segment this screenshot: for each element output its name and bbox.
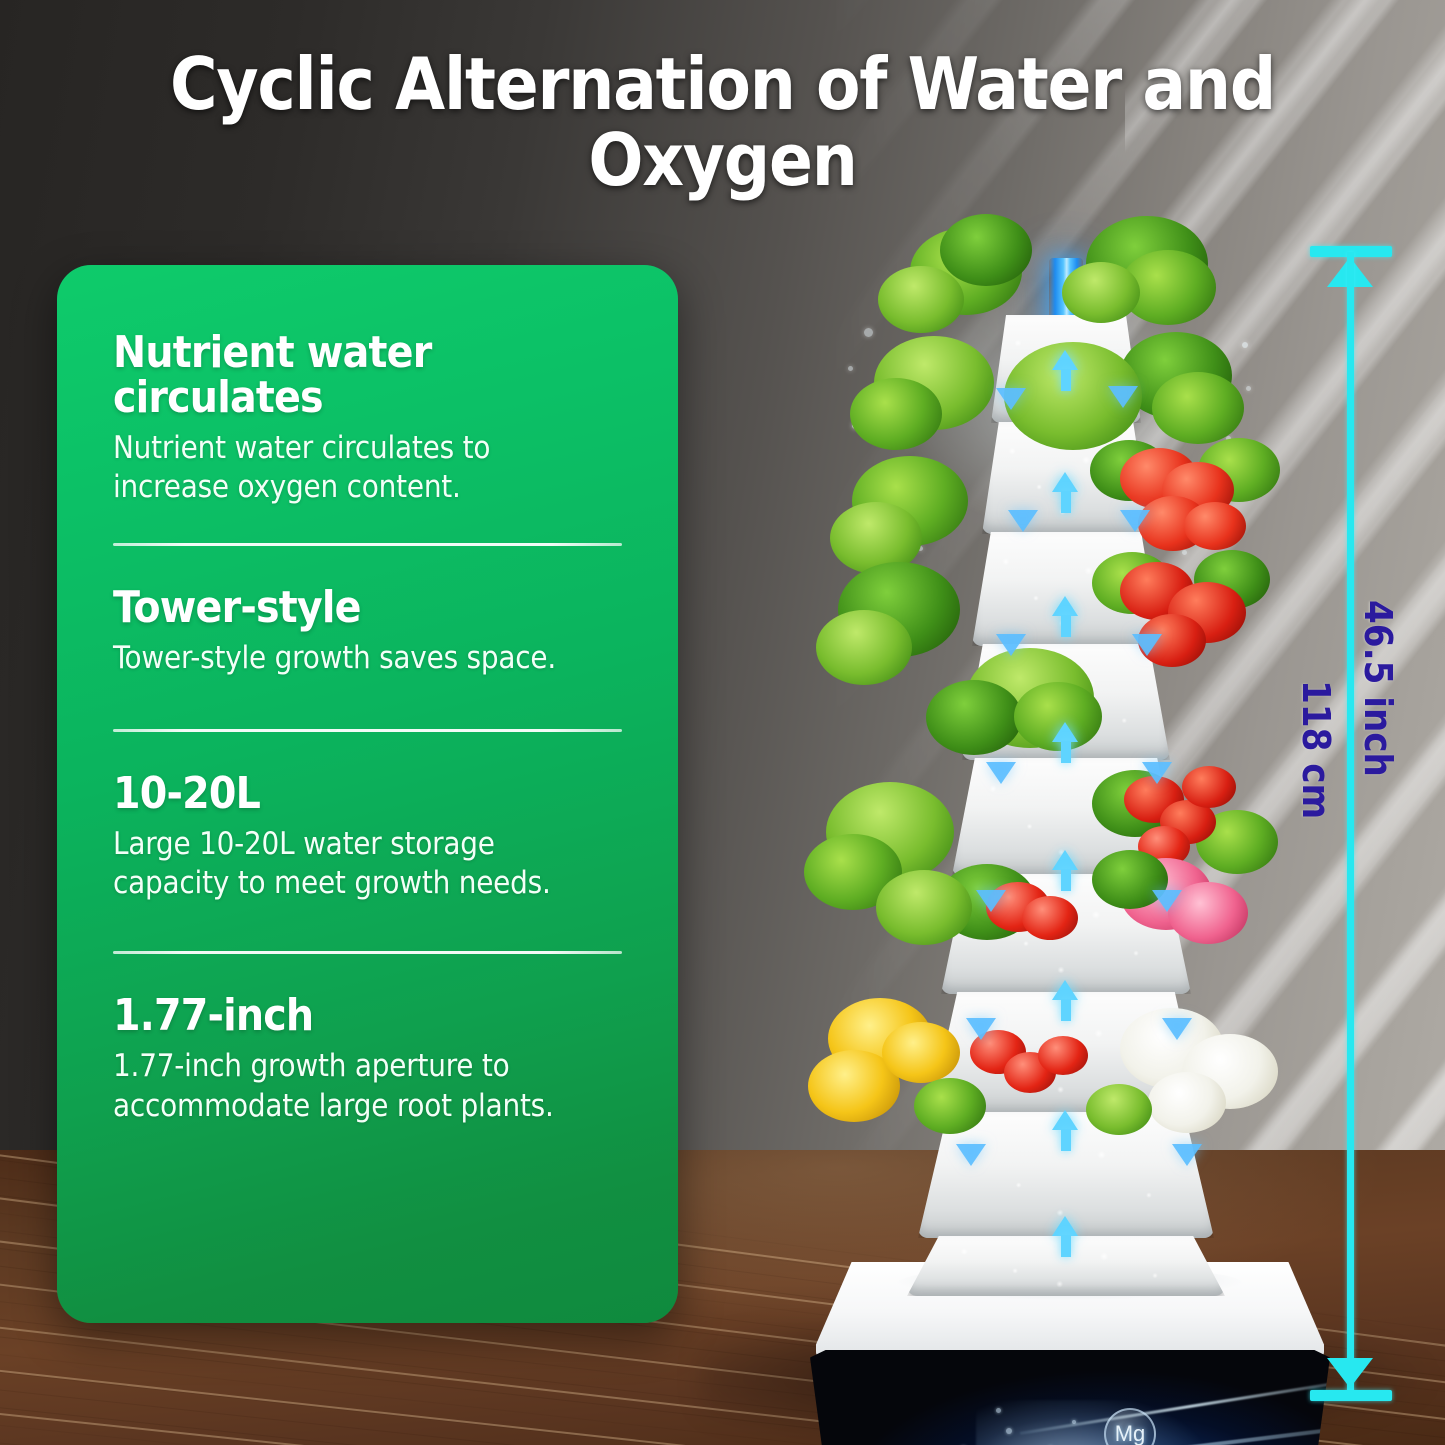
- water-down-arrow-icon: [1172, 1144, 1202, 1166]
- water-down-arrow-icon: [986, 762, 1016, 784]
- feature-heading: 10-20L: [113, 772, 622, 817]
- water-down-arrow-icon: [1142, 762, 1172, 784]
- water-up-arrow-icon: [1052, 350, 1078, 370]
- feature-body: Tower-style growth saves space.: [113, 639, 622, 678]
- water-down-arrow-icon: [1108, 386, 1138, 408]
- water-up-arrow-tail: [1061, 491, 1071, 513]
- water-bubble: [996, 1408, 1001, 1413]
- water-up-arrow-icon: [1052, 722, 1078, 742]
- water-up-arrow-tail: [1061, 1235, 1071, 1257]
- title-line-2: Oxygen: [0, 122, 1445, 198]
- water-down-arrow-icon: [1132, 634, 1162, 656]
- feature-item-aperture: 1.77-inch 1.77-inch growth aperture to a…: [113, 994, 622, 1126]
- plant-cluster: [1022, 896, 1078, 940]
- plant-cluster: [878, 266, 964, 333]
- plant-cluster: [882, 1022, 960, 1083]
- water-down-arrow-icon: [1120, 510, 1150, 532]
- water-down-arrow-icon: [996, 388, 1026, 410]
- page-title: Cyclic Alternation of Water and Oxygen: [0, 46, 1445, 199]
- plant-cluster: [1184, 502, 1246, 550]
- water-up-arrow-tail: [1061, 1129, 1071, 1151]
- water-up-arrow-icon: [1052, 980, 1078, 1000]
- feature-panel: Nutrient water circulates Nutrient water…: [57, 265, 678, 1323]
- plant-cluster: [1086, 1084, 1152, 1135]
- feature-item-nutrient-water: Nutrient water circulates Nutrient water…: [113, 331, 622, 507]
- water-down-arrow-icon: [966, 1018, 996, 1040]
- dimension-label-metric: 118 cm: [1294, 680, 1338, 819]
- dimension-label-imperial: 46.5 inch: [1356, 600, 1400, 777]
- plant-cluster: [926, 680, 1022, 755]
- water-up-arrow-tail: [1061, 369, 1071, 391]
- water-bubble: [1072, 1420, 1076, 1424]
- plant-cluster: [1182, 766, 1236, 808]
- feature-divider: [113, 543, 622, 546]
- plant-cluster: [1148, 1072, 1226, 1133]
- plant-cluster: [940, 214, 1032, 286]
- feature-divider: [113, 951, 622, 954]
- plant-cluster: [876, 870, 972, 945]
- plant-cluster: [1062, 262, 1140, 323]
- water-bubble: [1006, 1428, 1012, 1434]
- feature-item-tower-style: Tower-style Tower-style growth saves spa…: [113, 586, 622, 678]
- title-line-1: Cyclic Alternation of Water and: [170, 42, 1275, 126]
- feature-body: Nutrient water circulates to increase ox…: [113, 429, 622, 508]
- feature-body: 1.77-inch growth aperture to accommodate…: [113, 1047, 622, 1126]
- water-up-arrow-icon: [1052, 850, 1078, 870]
- feature-heading: Nutrient water circulates: [113, 331, 622, 421]
- water-down-arrow-icon: [1008, 510, 1038, 532]
- feature-body: Large 10-20L water storage capacity to m…: [113, 825, 622, 904]
- dimension-line: [1347, 252, 1354, 1397]
- plant-cluster: [850, 378, 942, 450]
- water-up-arrow-tail: [1061, 869, 1071, 891]
- plant-cluster: [1152, 372, 1244, 444]
- dimension-arrow-down-icon: [1327, 1358, 1373, 1388]
- feature-divider: [113, 729, 622, 732]
- feature-heading: Tower-style: [113, 586, 622, 631]
- water-down-arrow-icon: [1162, 1018, 1192, 1040]
- reservoir-tank: P Mg N Ca: [810, 1350, 1330, 1445]
- plant-cluster: [816, 610, 912, 685]
- water-down-arrow-icon: [1152, 890, 1182, 912]
- dimension-cap-bottom: [1310, 1390, 1392, 1401]
- water-up-arrow-icon: [1052, 1110, 1078, 1130]
- water-up-arrow-icon: [1052, 472, 1078, 492]
- plant-cluster: [914, 1078, 986, 1134]
- water-up-arrow-icon: [1052, 1216, 1078, 1236]
- height-dimension-annotation: 46.5 inch 118 cm: [1290, 230, 1440, 1410]
- water-up-arrow-tail: [1061, 999, 1071, 1021]
- feature-heading: 1.77-inch: [113, 994, 622, 1039]
- water-down-arrow-icon: [956, 1144, 986, 1166]
- water-down-arrow-icon: [996, 634, 1026, 656]
- water-up-arrow-icon: [1052, 596, 1078, 616]
- water-up-arrow-tail: [1061, 615, 1071, 637]
- water-down-arrow-icon: [976, 890, 1006, 912]
- plant-cluster: [1038, 1036, 1088, 1075]
- water-up-arrow-tail: [1061, 741, 1071, 763]
- feature-item-capacity: 10-20L Large 10-20L water storage capaci…: [113, 772, 622, 904]
- hydroponic-tower-product: P Mg N Ca: [790, 210, 1350, 1440]
